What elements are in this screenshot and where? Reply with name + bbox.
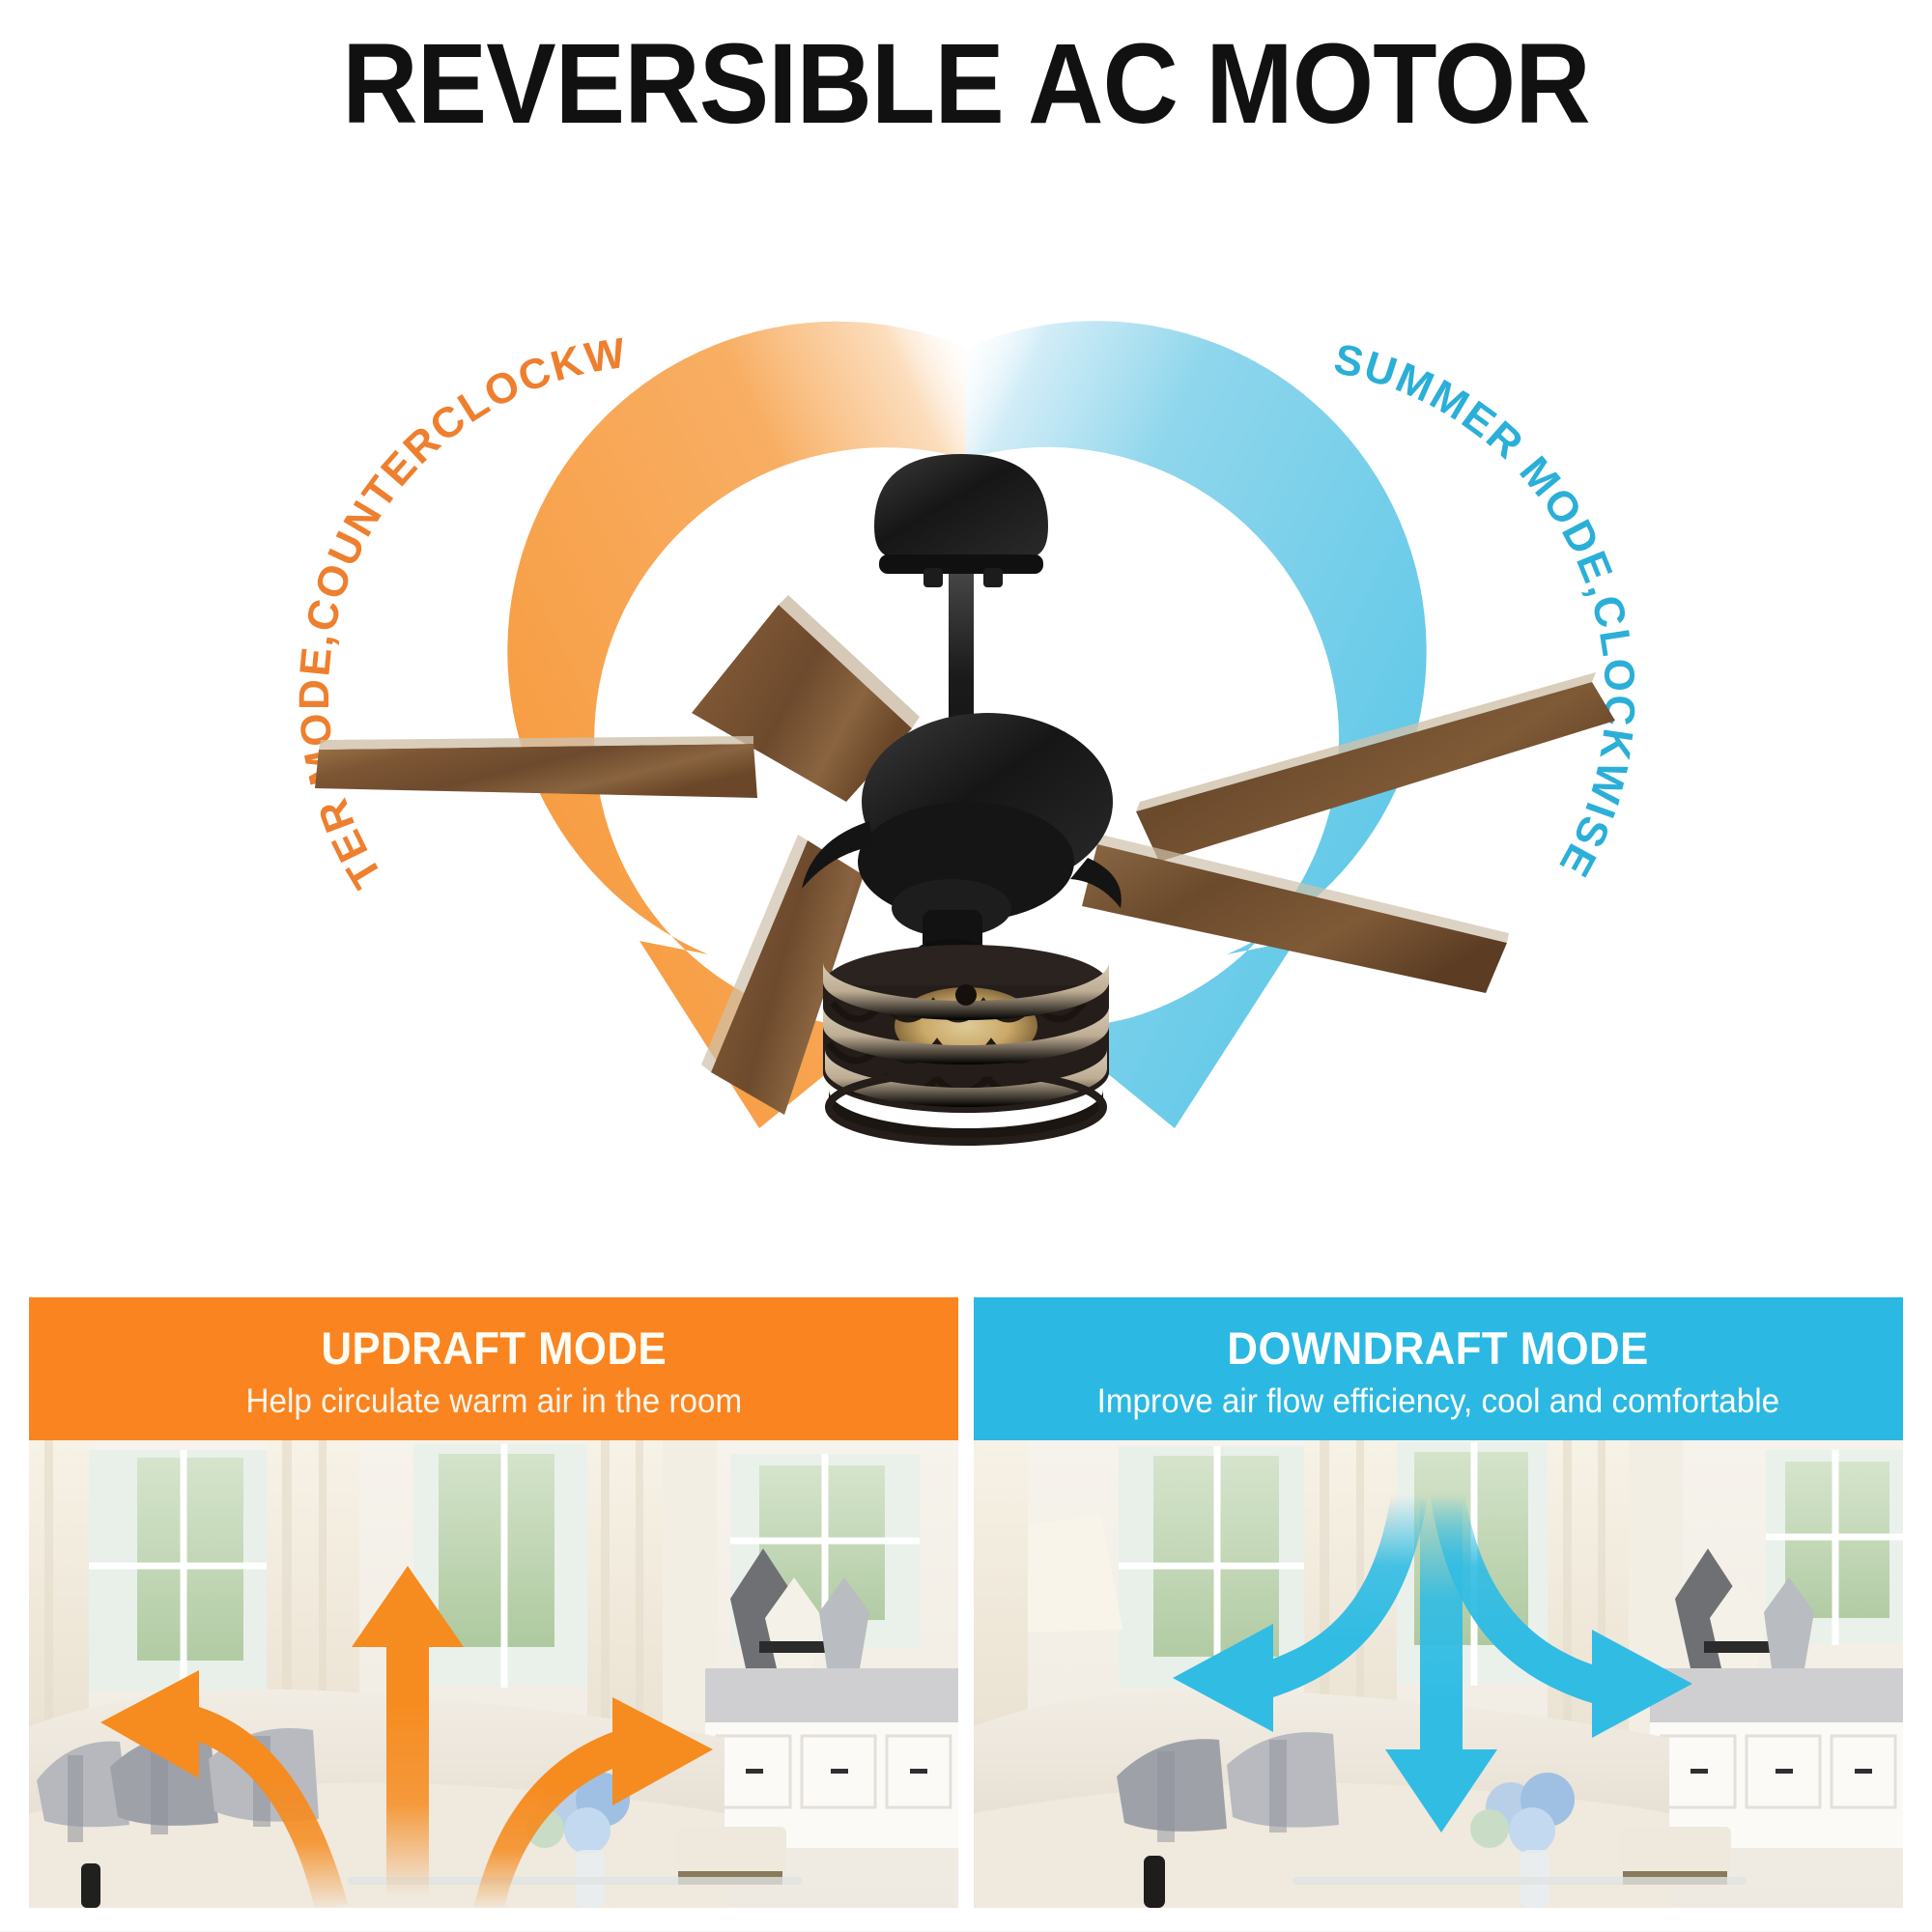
panel-updraft-title: UPDRAFT MODE — [321, 1325, 667, 1371]
fan-blade-left — [315, 736, 757, 798]
panel-downdraft-title: DOWNDRAFT MODE — [1228, 1325, 1649, 1371]
panel-downdraft-subtitle: Improve air flow efficiency, cool and co… — [1097, 1384, 1780, 1418]
canopy — [874, 454, 1048, 555]
infographic-root: REVERSIBLE AC MOTOR — [0, 0, 1932, 1932]
mode-panels: UPDRAFT MODE Help circulate warm air in … — [0, 1297, 1932, 1916]
hero-section: WINTER MODE,COUNTERCLOCKWISE SUMMER MODE… — [0, 145, 1932, 1275]
panel-downdraft-photo — [974, 1440, 1903, 1908]
panel-updraft[interactable]: UPDRAFT MODE Help circulate warm air in … — [29, 1297, 958, 1908]
ceiling-fan-product-image — [0, 145, 1932, 1275]
panel-updraft-photo — [29, 1440, 958, 1908]
panel-updraft-header: UPDRAFT MODE Help circulate warm air in … — [29, 1297, 958, 1440]
fan-blade-lower-right — [1082, 835, 1509, 993]
caged-drum-light — [823, 945, 1109, 1142]
panel-updraft-subtitle: Help circulate warm air in the room — [245, 1384, 742, 1418]
page-title: REVERSIBLE AC MOTOR — [77, 25, 1855, 145]
fan-blade-right — [1136, 672, 1615, 862]
panel-downdraft-header: DOWNDRAFT MODE Improve air flow efficien… — [974, 1297, 1903, 1440]
panel-downdraft[interactable]: DOWNDRAFT MODE Improve air flow efficien… — [974, 1297, 1903, 1908]
